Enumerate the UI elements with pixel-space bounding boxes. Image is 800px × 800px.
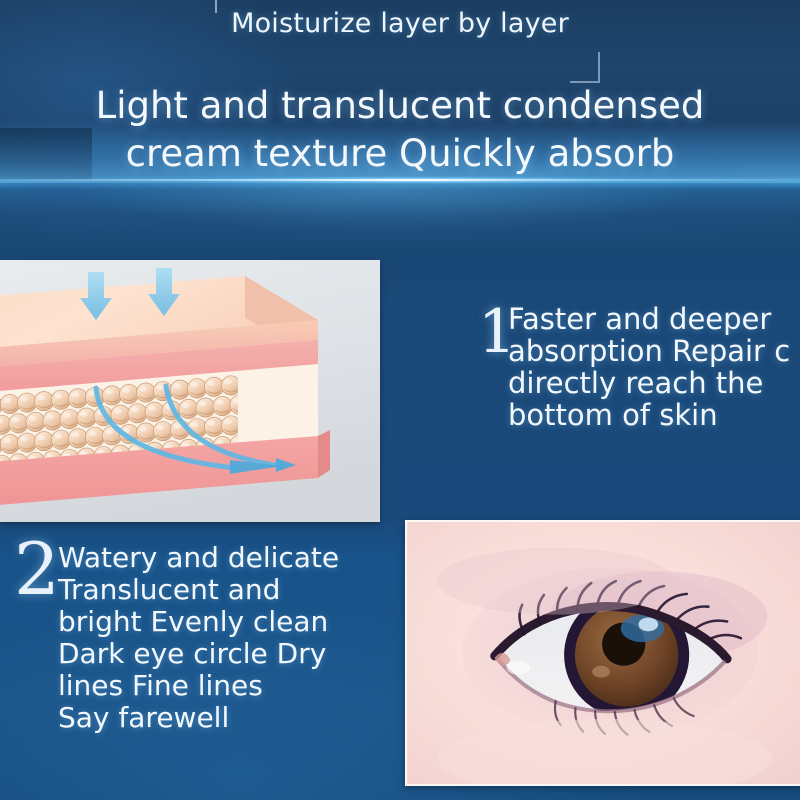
eye-photo-image bbox=[405, 520, 800, 786]
feature-2-line-4: Dark eye circle Dry bbox=[58, 638, 414, 670]
feature-text-2: Watery and delicate Translucent and brig… bbox=[58, 542, 414, 734]
eye-closeup-icon bbox=[407, 522, 800, 784]
promotional-poster: Moisturize layer by layer Light and tran… bbox=[0, 0, 800, 800]
feature-text-1: Faster and deeper absorption Repair c di… bbox=[508, 303, 800, 431]
subtitle: Moisturize layer by layer bbox=[0, 8, 800, 39]
feature-2-line-5: lines Fine lines bbox=[58, 670, 414, 702]
feature-block-1: 1 Faster and deeper absorption Repair c … bbox=[478, 303, 800, 431]
feature-2-line-2: Translucent and bbox=[58, 574, 414, 606]
feature-2-line-6: Say farewell bbox=[58, 702, 414, 734]
feature-2-line-1: Watery and delicate bbox=[58, 542, 414, 574]
feature-1-line-1: Faster and deeper bbox=[508, 303, 800, 335]
feature-2-line-3: bright Evenly clean bbox=[58, 606, 414, 638]
light-streak-line bbox=[0, 179, 800, 181]
skin-diagram-image bbox=[0, 260, 380, 522]
feature-1-line-2: absorption Repair c bbox=[508, 335, 800, 367]
bracket-corner-bottom-right bbox=[570, 52, 600, 83]
feature-1-line-3: directly reach the bbox=[508, 367, 800, 399]
feature-1-line-4: bottom of skin bbox=[508, 399, 800, 431]
headline-line-1: Light and translucent condensed bbox=[0, 82, 800, 130]
skin-cross-section-icon bbox=[0, 260, 380, 522]
feature-number-1: 1 bbox=[478, 299, 516, 365]
headline: Light and translucent condensed cream te… bbox=[0, 82, 800, 178]
headline-line-2: cream texture Quickly absorb bbox=[0, 130, 800, 178]
feature-number-2: 2 bbox=[14, 536, 60, 602]
feature-block-2: 2 Watery and delicate Translucent and br… bbox=[14, 542, 414, 734]
